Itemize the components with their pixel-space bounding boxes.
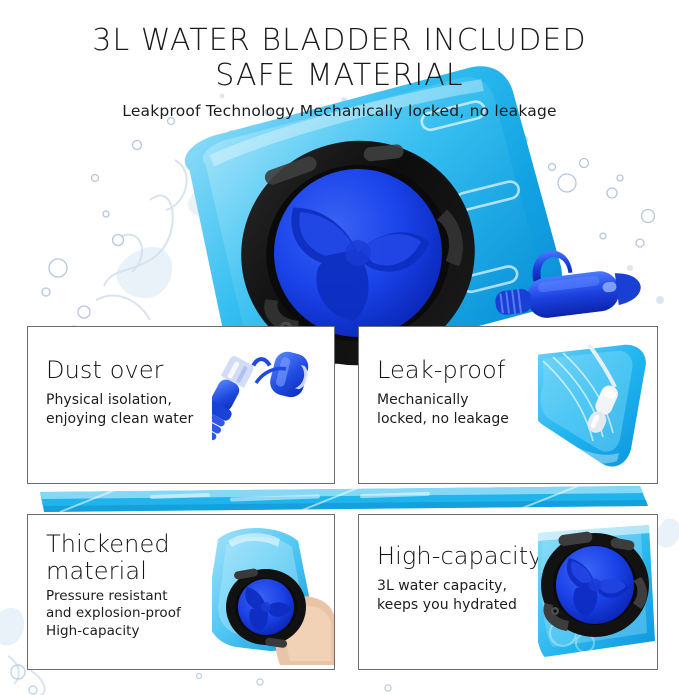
feature-card-body: 3L water capacity, keeps you hydrated <box>377 577 565 614</box>
feature-card-body: Mechanically locked, no leakage <box>377 391 565 428</box>
feature-card-thickened-material: Thickened material Pressure resistant an… <box>27 514 335 670</box>
feature-card-text: High-capacity 3L water capacity, keeps y… <box>377 543 565 614</box>
page-subtitle: Leakproof Technology Mechanically locked… <box>0 102 679 120</box>
feature-card-text: Dust over Physical isolation, enjoying c… <box>46 357 239 428</box>
product-infographic: 3L WATER BLADDER INCLUDED SAFE MATERIAL … <box>0 0 679 695</box>
feature-card-text: Leak-proof Mechanically locked, no leaka… <box>377 357 565 428</box>
feature-card-dust-over: Dust over Physical isolation, enjoying c… <box>27 326 335 484</box>
wide-mouth-screw-cap-closeup-photo <box>538 515 657 669</box>
header-block: 3L WATER BLADDER INCLUDED SAFE MATERIAL … <box>0 0 679 120</box>
feature-card-body: Physical isolation, enjoying clean water <box>46 391 239 428</box>
page-title-line1: 3L WATER BLADDER INCLUDED <box>0 26 679 57</box>
feature-card-title: Dust over <box>46 357 239 384</box>
feature-card-title: Thickened material <box>46 531 239 586</box>
feature-card-body: Pressure resistant and explosion-proof H… <box>46 588 239 641</box>
bladder-corner-with-locked-hose-photo <box>538 327 657 483</box>
feature-card-text: Thickened material Pressure resistant an… <box>46 531 239 640</box>
feature-card-title: Leak-proof <box>377 357 565 384</box>
hand-squeezing-filled-bladder-photo <box>212 515 334 669</box>
feature-card-high-capacity: High-capacity 3L water capacity, keeps y… <box>358 514 658 670</box>
feature-card-leak-proof: Leak-proof Mechanically locked, no leaka… <box>358 326 658 484</box>
page-title-line2: SAFE MATERIAL <box>0 61 679 92</box>
bite-valve-with-dust-cover-photo <box>212 327 334 483</box>
feature-card-title: High-capacity <box>377 543 565 570</box>
